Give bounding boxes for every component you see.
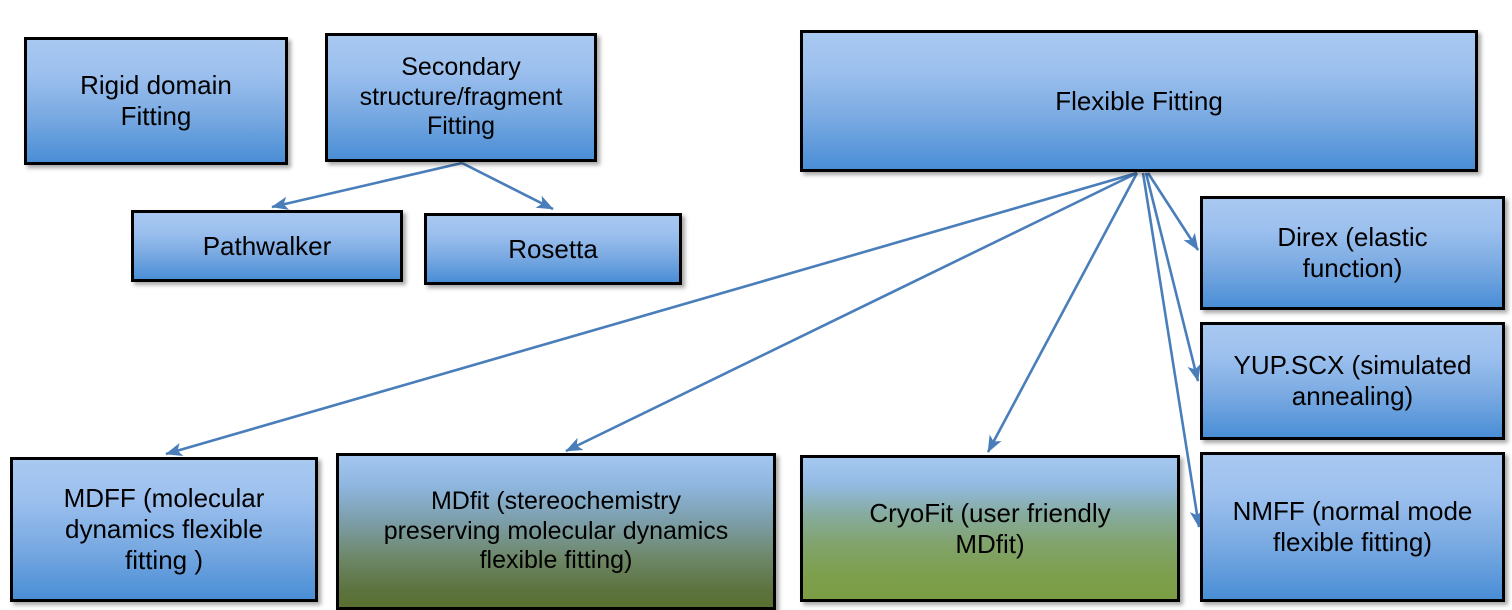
node-flexible-fitting[interactable]: Flexible Fitting xyxy=(800,30,1478,172)
node-pathwalker[interactable]: Pathwalker xyxy=(131,210,403,282)
node-label-cryofit: CryoFit (user friendly MDfit) xyxy=(811,498,1169,559)
connector-flexible-to-cryofit xyxy=(988,173,1137,452)
node-label-pathwalker: Pathwalker xyxy=(142,231,392,262)
node-yup-scx[interactable]: YUP.SCX (simulated annealing) xyxy=(1200,322,1505,440)
node-label-flexible-fitting: Flexible Fitting xyxy=(811,86,1467,117)
connector-secondary-to-rosetta xyxy=(462,163,553,209)
node-label-secondary-structure-fragment-fitting: Secondary structure/fragment Fitting xyxy=(336,53,586,142)
node-label-rosetta: Rosetta xyxy=(435,234,671,265)
connector-flexible-to-yupscx xyxy=(1146,173,1198,381)
connector-secondary-to-pathwalker xyxy=(272,163,462,207)
node-rigid-domain-fitting[interactable]: Rigid domain Fitting xyxy=(24,37,288,165)
node-nmff[interactable]: NMFF (normal mode flexible fitting) xyxy=(1200,452,1505,602)
node-label-mdfit: MDfit (stereochemistry preserving molecu… xyxy=(347,487,765,576)
node-direx[interactable]: Direx (elastic function) xyxy=(1200,196,1505,310)
connector-flexible-to-direx xyxy=(1148,173,1198,250)
node-mdfit[interactable]: MDfit (stereochemistry preserving molecu… xyxy=(336,453,776,610)
node-mdff[interactable]: MDFF (molecular dynamics flexible fittin… xyxy=(10,457,318,602)
node-label-yup-scx: YUP.SCX (simulated annealing) xyxy=(1211,350,1494,411)
node-label-rigid-domain-fitting: Rigid domain Fitting xyxy=(35,70,277,131)
node-cryofit[interactable]: CryoFit (user friendly MDfit) xyxy=(800,455,1180,602)
diagram-canvas: Rigid domain FittingSecondary structure/… xyxy=(0,0,1512,610)
node-label-direx: Direx (elastic function) xyxy=(1211,222,1494,283)
node-rosetta[interactable]: Rosetta xyxy=(424,213,682,285)
node-label-mdff: MDFF (molecular dynamics flexible fittin… xyxy=(21,483,307,575)
node-secondary-structure-fragment-fitting[interactable]: Secondary structure/fragment Fitting xyxy=(325,33,597,162)
node-label-nmff: NMFF (normal mode flexible fitting) xyxy=(1211,496,1494,557)
